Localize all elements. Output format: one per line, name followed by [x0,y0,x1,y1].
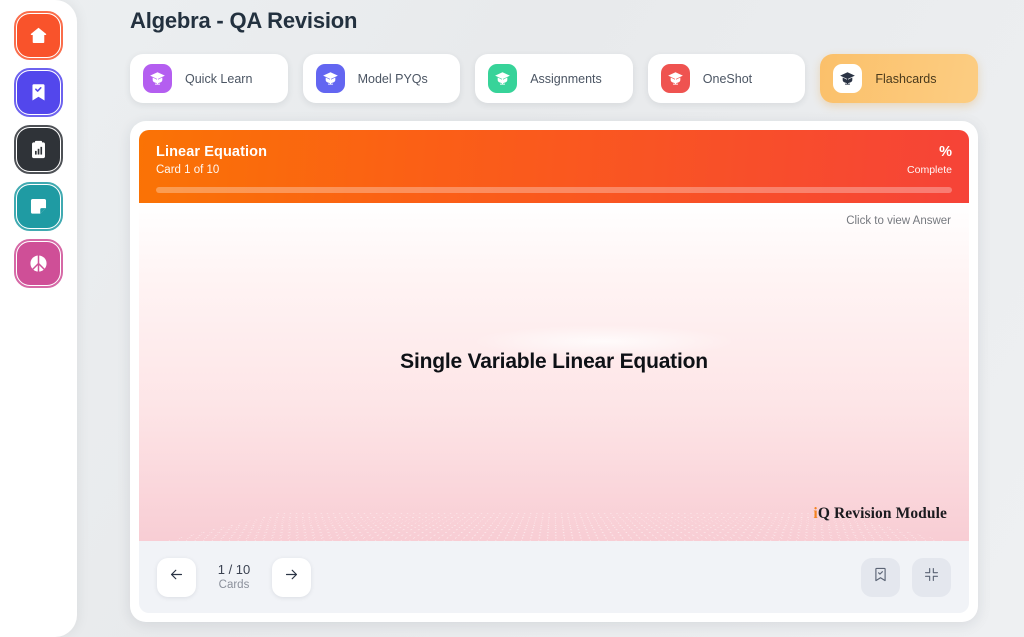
flashcard-footer: 1 / 10 Cards [139,541,969,613]
prev-card-button[interactable] [157,558,196,597]
bookmark-card-button[interactable] [861,558,900,597]
home-icon [28,25,49,46]
tab-label: Assignments [530,72,602,86]
progress-percent-value: % [907,144,952,160]
flashcard-topic: Linear Equation [156,144,267,160]
flashcard-question: Single Variable Linear Equation [400,350,708,374]
peace-icon [28,253,49,274]
card-counter: 1 / 10 Cards [208,562,260,593]
note-icon [28,196,49,217]
graduation-cap-icon [661,64,690,93]
sidebar-item-reports[interactable] [17,128,60,171]
tab-label: OneShot [703,72,752,86]
module-tabs: Quick Learn Model PYQs Assignments OneSh… [130,54,978,103]
flashcard-face[interactable]: Click to view Answer Single Variable Lin… [139,203,969,541]
flashcard-card-counter: Card 1 of 10 [156,164,267,176]
progress-bar [156,187,952,193]
sidebar-item-wellbeing[interactable] [17,242,60,285]
flashcard-panel: Linear Equation Card 1 of 10 % Complete … [130,121,978,622]
fullscreen-toggle-button[interactable] [912,558,951,597]
graduation-cap-icon [488,64,517,93]
graduation-cap-icon [143,64,172,93]
clipboard-chart-icon [28,139,49,160]
bookmark-check-icon [28,82,49,103]
brand-rest: Q Revision Module [818,505,947,522]
next-card-button[interactable] [272,558,311,597]
app-root: Algebra - QA Revision Quick Learn Model … [0,0,1024,637]
tab-label: Quick Learn [185,72,252,86]
compress-icon [923,566,940,588]
sidebar-item-notes[interactable] [17,185,60,228]
card-counter-number: 1 / 10 [208,562,260,578]
sidebar [0,0,77,637]
click-to-view-answer[interactable]: Click to view Answer [846,215,951,227]
arrow-right-icon [283,566,300,588]
tab-assignments[interactable]: Assignments [475,54,633,103]
progress-percent-label: Complete [907,164,952,176]
brand-watermark: iQ Revision Module [813,505,947,523]
flashcard-header: Linear Equation Card 1 of 10 % Complete [139,130,969,203]
graduation-cap-icon [316,64,345,93]
bookmark-check-icon [872,566,889,588]
graduation-cap-icon [833,64,862,93]
sidebar-item-home[interactable] [17,14,60,57]
tab-quick-learn[interactable]: Quick Learn [130,54,288,103]
tab-flashcards[interactable]: Flashcards [820,54,978,103]
tab-model-pyqs[interactable]: Model PYQs [303,54,461,103]
card-counter-label: Cards [208,578,260,592]
main-content: Algebra - QA Revision Quick Learn Model … [77,0,1024,637]
page-title: Algebra - QA Revision [130,0,978,34]
tab-oneshot[interactable]: OneShot [648,54,806,103]
arrow-left-icon [168,566,185,588]
tab-label: Flashcards [875,72,936,86]
tab-label: Model PYQs [358,72,428,86]
sidebar-item-bookmarks[interactable] [17,71,60,114]
